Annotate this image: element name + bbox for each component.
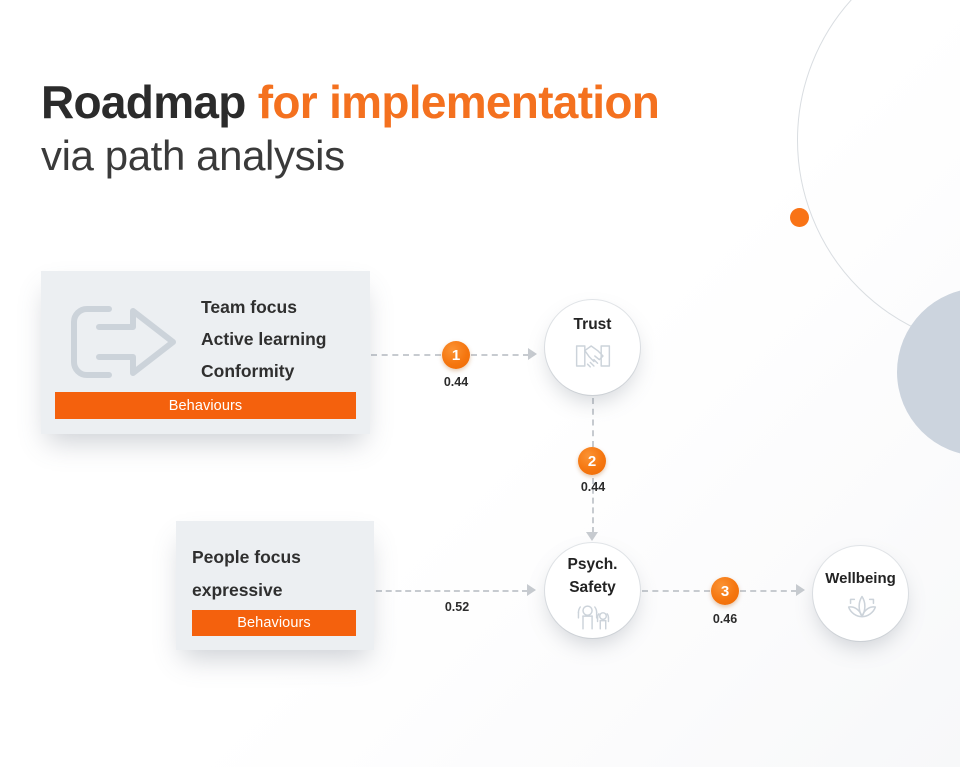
card-line: Conformity [201,356,326,388]
infographic-canvas: Roadmap for implementation via path anal… [0,0,960,767]
edge-badge-3[interactable]: 3 [711,577,739,605]
handshake-icon [573,339,613,373]
node-psych-safety-label: Psych. Safety [568,554,618,600]
edge-badge-2[interactable]: 2 [578,447,606,475]
title-line-2: via path analysis [41,133,841,179]
people-raised-arms-icon [573,602,613,636]
edge-value-4: 0.52 [427,600,487,614]
edge-value-1: 0.44 [426,375,486,389]
title-accent-text: for implementation [258,76,659,128]
node-wellbeing-label: Wellbeing [796,568,926,590]
decorative-circle-blob [897,288,960,456]
node-wellbeing[interactable]: Wellbeing [813,546,908,641]
node-trust-label: Trust [574,314,612,337]
node-trust[interactable]: Trust [545,300,640,395]
edge-badge-1[interactable]: 1 [442,341,470,369]
title-plain-text: Roadmap [41,76,258,128]
card-behaviours-2-text: People focus expressive [192,541,301,606]
card-line: expressive [192,574,301,607]
behaviours-bar-2[interactable]: Behaviours [192,610,356,636]
decorative-orange-dot [790,208,809,227]
exit-arrow-icon [61,299,186,385]
card-line: Active learning [201,324,326,356]
title-line-1: Roadmap for implementation [41,78,841,127]
node-psych-safety-label-line1: Psych. [568,554,618,577]
card-line: Team focus [201,292,326,324]
card-line: People focus [192,541,301,574]
page-title: Roadmap for implementation via path anal… [41,78,841,179]
behaviours-bar-1[interactable]: Behaviours [55,392,356,419]
edge-value-3: 0.46 [695,612,755,626]
edge-value-2: 0.44 [563,480,623,494]
card-behaviours-1-text: Team focus Active learning Conformity [201,292,326,388]
card-behaviours-1[interactable]: Team focus Active learning Conformity Be… [41,271,370,434]
node-psych-safety-label-line2: Safety [568,577,618,600]
card-behaviours-2[interactable]: People focus expressive Behaviours [176,521,374,650]
lotus-icon [841,593,881,627]
node-psych-safety[interactable]: Psych. Safety [545,543,640,638]
